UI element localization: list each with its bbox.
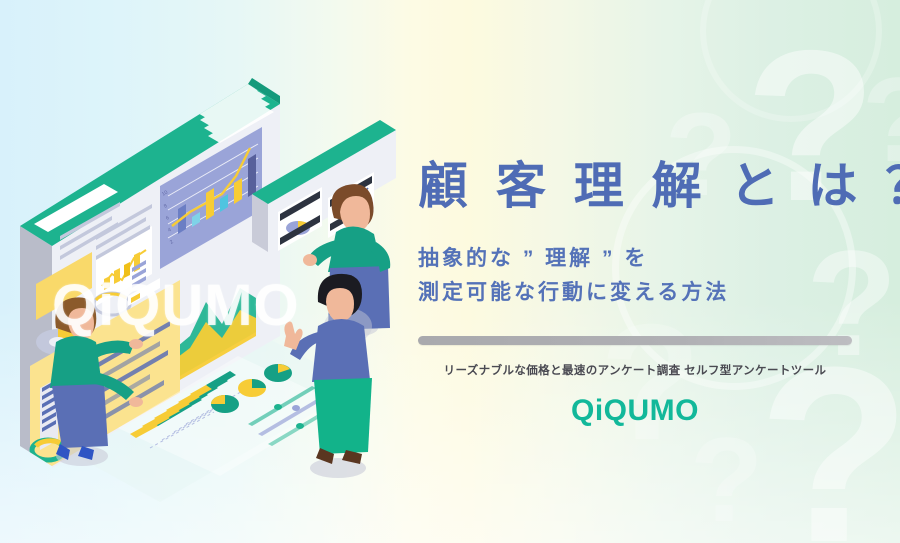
decorative-ring-small bbox=[700, 0, 882, 122]
question-mark-icon: ? bbox=[690, 420, 763, 540]
subtitle-line-1: 抽象的な ” 理解 ” を bbox=[418, 242, 868, 276]
hero-subtitle: 抽象的な ” 理解 ” を 測定可能な行動に変える方法 bbox=[418, 242, 868, 310]
page-title: 顧 客 理 解 と は ？ bbox=[418, 158, 868, 214]
subtitle-line-2: 測定可能な行動に変える方法 bbox=[418, 276, 868, 310]
divider bbox=[418, 336, 852, 345]
hero-banner: ? ? ? ? ? ? ? bbox=[0, 0, 900, 543]
isometric-dashboard-illustration: 10 8 6 4 2 bbox=[0, 36, 420, 506]
tagline: リーズナブルな価格と最速のアンケート調査 セルフ型アンケートツール bbox=[418, 362, 852, 378]
hero-copy: 顧 客 理 解 と は ？ 抽象的な ” 理解 ” を 測定可能な行動に変える方… bbox=[418, 158, 868, 428]
brand-logo: QiQUMO bbox=[418, 394, 852, 428]
